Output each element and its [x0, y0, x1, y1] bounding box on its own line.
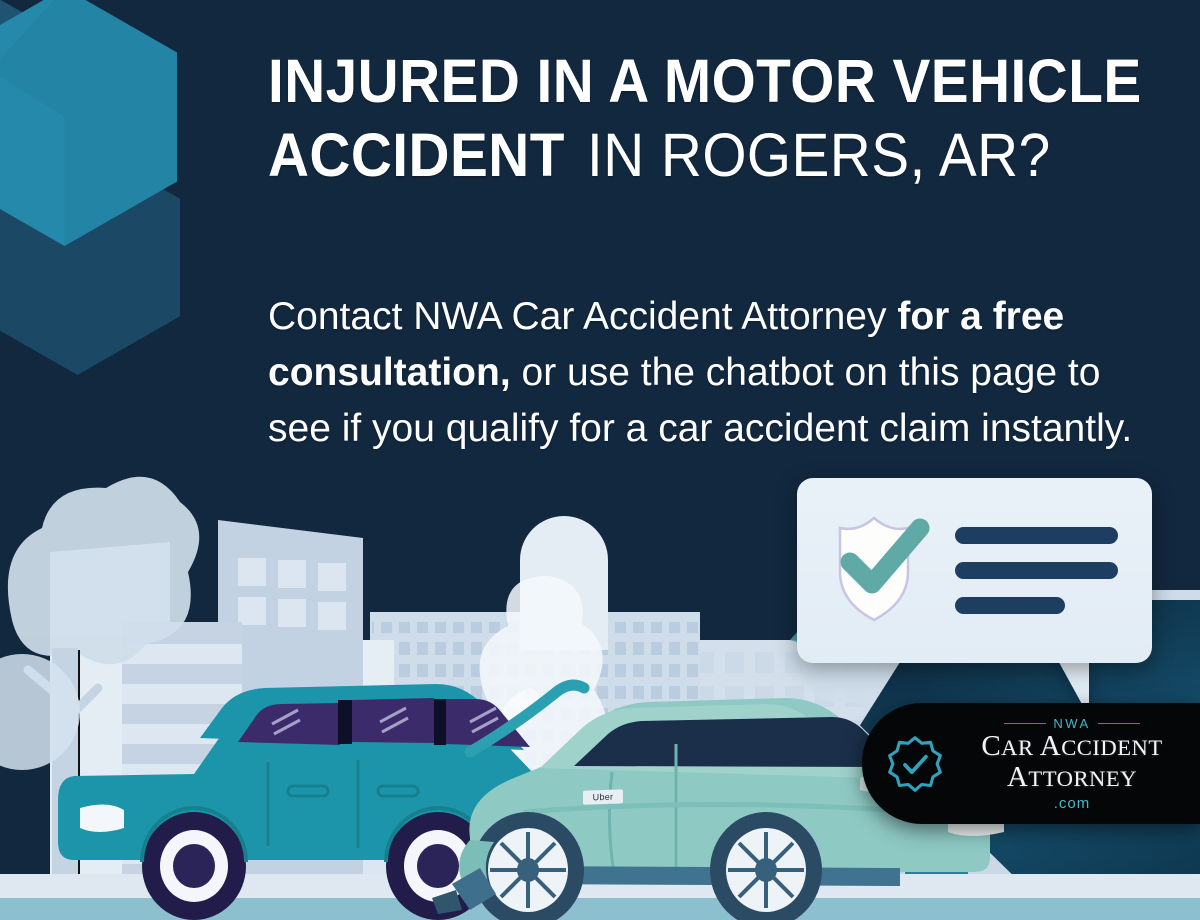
verified-seal-check-icon [886, 735, 944, 793]
body-copy-part-1: Contact NWA Car Accident Attorney [268, 295, 897, 338]
logo-wordmark: NWA CAR ACCIDENT ATTORNEY .com [958, 716, 1200, 812]
headline: INJURED IN A MOTOR VEHICLE ACCIDENT IN R… [268, 44, 1168, 192]
logo-rule-right [1098, 723, 1140, 724]
logo-nwa-text: NWA [1053, 716, 1090, 731]
chat-bubble-line-2 [955, 562, 1118, 579]
headline-line-1: INJURED IN A MOTOR VEHICLE [268, 44, 1142, 118]
chat-bubble-line-3 [955, 597, 1065, 614]
logo-line-1: CAR ACCIDENT [958, 732, 1186, 762]
headline-line-2-light: IN ROGERS, AR? [587, 118, 1051, 192]
logo-line-2: ATTORNEY [958, 763, 1186, 793]
banner-canvas: Uber INJURED IN A MOTOR VEHICLE ACCIDENT… [0, 0, 1200, 920]
logo-dotcom: .com [958, 795, 1186, 812]
logo-nwa-row: NWA [958, 716, 1186, 731]
shield-check-icon [818, 500, 943, 625]
logo-badge[interactable]: NWA CAR ACCIDENT ATTORNEY .com [862, 703, 1200, 824]
headline-line-2-strong: ACCIDENT [268, 118, 565, 192]
logo-rule-left [1004, 723, 1046, 724]
body-copy: Contact NWA Car Accident Attorney for a … [268, 289, 1158, 457]
chat-bubble-line-1 [955, 527, 1118, 544]
